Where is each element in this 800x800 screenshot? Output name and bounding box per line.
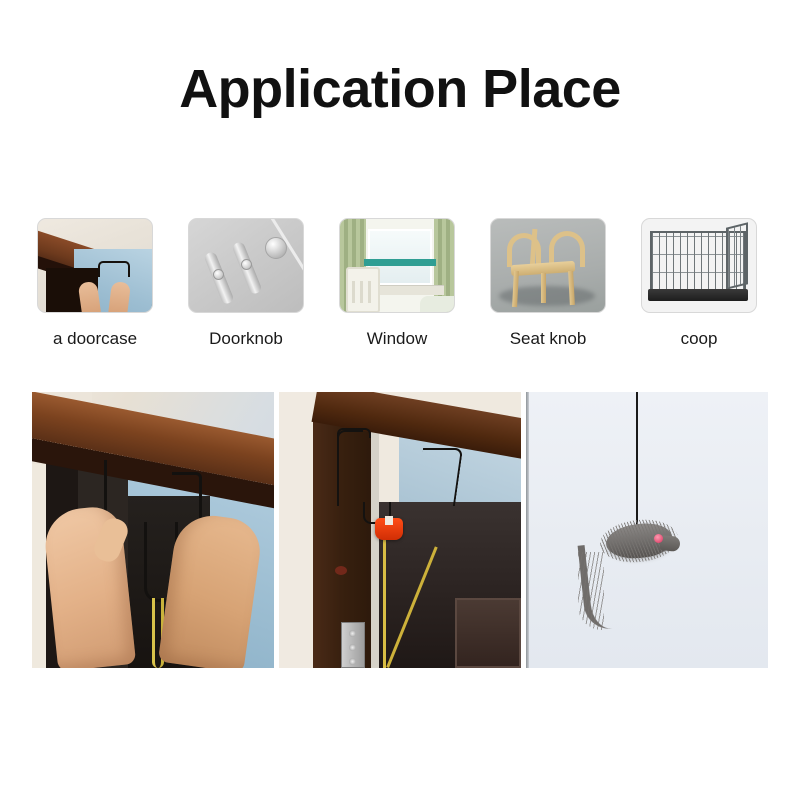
product-photo-row bbox=[32, 392, 768, 668]
chair-slat-shape bbox=[368, 281, 371, 303]
cage-side-shape bbox=[726, 222, 748, 289]
thumbnail-item-doorcase[interactable]: a doorcase bbox=[37, 218, 153, 358]
chair-leg-shape bbox=[568, 271, 575, 305]
thumbnail-item-seat-knob[interactable]: Seat knob bbox=[490, 218, 606, 358]
cage-tray-shape bbox=[648, 289, 748, 301]
wire-hook-left-shape bbox=[337, 430, 363, 506]
thumbnail-label: coop bbox=[681, 330, 718, 347]
mounted-hanger-photo[interactable] bbox=[279, 392, 521, 668]
thumbnail-label: Doorknob bbox=[209, 330, 283, 347]
chair-slat-shape bbox=[352, 281, 355, 303]
wooden-chair-photo[interactable] bbox=[490, 218, 606, 313]
hinge-screw-shape bbox=[349, 630, 356, 637]
hanging-mouse-toy-photo[interactable] bbox=[526, 392, 768, 668]
mouse-eye-shape bbox=[654, 534, 663, 543]
hinge-screw-shape bbox=[349, 658, 356, 665]
mouse-tail-fur-shape bbox=[578, 552, 604, 630]
chair-slat-shape bbox=[360, 281, 363, 303]
application-thumbnail-row: a doorcase Doorknob bbox=[37, 218, 767, 358]
installing-hanger-photo[interactable] bbox=[32, 392, 274, 668]
yellow-cord-shape bbox=[383, 538, 389, 668]
white-chair-shape bbox=[346, 267, 380, 313]
hanging-string-shape bbox=[636, 392, 638, 530]
door-panel-shape bbox=[455, 598, 521, 668]
handle-rosette-shape bbox=[241, 259, 252, 270]
thumbnail-item-coop[interactable]: coop bbox=[641, 218, 757, 358]
wire-hook-right-shape bbox=[415, 448, 463, 506]
thumbnail-label: Seat knob bbox=[510, 330, 587, 347]
clip-notch-shape bbox=[385, 516, 393, 525]
doorframe-hook-install-photo[interactable] bbox=[37, 218, 153, 313]
hinge-screw-shape bbox=[349, 644, 356, 651]
thumbnail-label: Window bbox=[367, 330, 427, 347]
bedding-shape bbox=[420, 296, 454, 312]
thumbnail-item-window[interactable]: Window bbox=[339, 218, 455, 358]
window-rail-shape bbox=[364, 259, 436, 266]
thumbnail-item-doorknob[interactable]: Doorknob bbox=[188, 218, 304, 358]
chair-leg-shape bbox=[541, 273, 546, 303]
thumbnail-label: a doorcase bbox=[53, 330, 137, 347]
wire-hook-shape bbox=[98, 261, 130, 277]
page-title: Application Place bbox=[0, 58, 800, 120]
window-green-curtains-photo[interactable] bbox=[339, 218, 455, 313]
wall-shape bbox=[279, 392, 313, 668]
round-knob-shape bbox=[265, 237, 287, 259]
wire-pet-cage-photo[interactable] bbox=[641, 218, 757, 313]
background-seam-shape bbox=[526, 392, 529, 668]
handle-rosette-shape bbox=[213, 269, 224, 280]
chrome-door-handles-photo[interactable] bbox=[188, 218, 304, 313]
hand-right-shape bbox=[108, 281, 131, 313]
